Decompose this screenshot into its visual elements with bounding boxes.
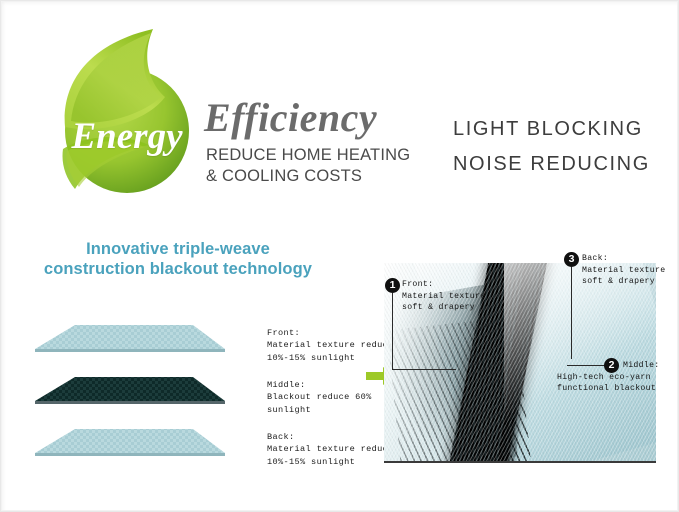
callout-1-leader-vertical [392, 293, 393, 369]
layer-slab-middle [29, 375, 225, 405]
back-layer-shape [29, 427, 225, 457]
middle-layer-shape [29, 375, 225, 405]
layer-label-middle: Middle: Blackout reduce 60% sunlight [267, 379, 372, 416]
page-title: Efficiency [204, 94, 377, 141]
callout-3-badge: 3 [564, 252, 579, 267]
page-subtitle: REDUCE HOME HEATING & COOLING COSTS [206, 145, 410, 187]
energy-leaf-logo: Energy [45, 23, 205, 201]
callout-3-leader [571, 267, 572, 359]
product-claims: LIGHT BLOCKING NOISE REDUCING [453, 112, 650, 182]
callout-1-badge: 1 [385, 278, 400, 293]
layer-label-back: Back: Material texture reduce 10%-15% su… [267, 431, 394, 468]
front-layer-shape [29, 323, 225, 353]
callout-1-text: Front: Material texture soft & drapery [402, 279, 485, 314]
layer-slab-back [29, 427, 225, 457]
layer-slab-front [29, 323, 225, 353]
logo-wordmark: Energy [57, 115, 197, 158]
leaf-droplet-icon [45, 23, 205, 201]
infographic-canvas: Energy Efficiency REDUCE HOME HEATING & … [0, 0, 679, 512]
callout-2-text: Middle: High-tech eco-yarn functional bl… [557, 360, 660, 395]
callout-3-text: Back: Material texture soft & drapery [582, 253, 665, 288]
weave-heading: Innovative triple-weave construction bla… [23, 239, 333, 279]
layer-label-front: Front: Material texture reduce 10%-15% s… [267, 327, 394, 364]
callout-1-leader-horizontal [392, 369, 456, 370]
